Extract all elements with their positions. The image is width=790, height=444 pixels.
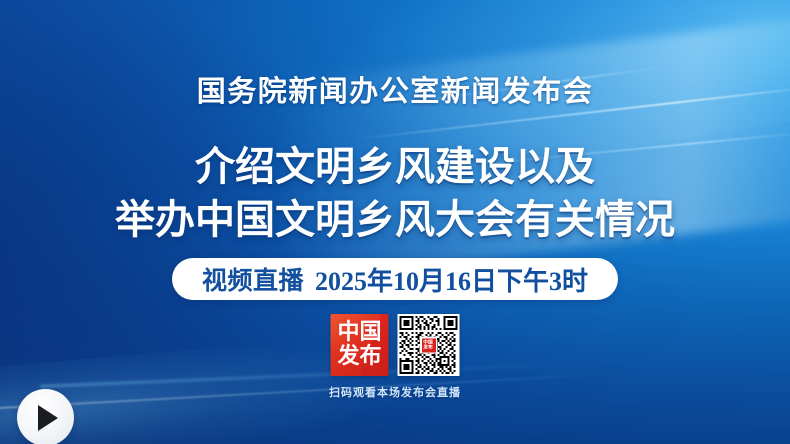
play-button[interactable] [17, 389, 74, 444]
qr-code[interactable]: 中国 发布 [398, 314, 460, 376]
live-broadcast-badge: 视频直播 2025年10月16日下午3时 [172, 258, 618, 300]
headline-line-2: 举办中国文明乡风大会有关情况 [0, 197, 790, 244]
qr-logo-text-bottom: 发布 [424, 345, 434, 350]
logo-text-bottom: 发布 [337, 346, 381, 368]
china-release-logo: 中国 发布 [331, 314, 389, 376]
press-conference-organizer-title: 国务院新闻办公室新闻发布会 [0, 68, 790, 110]
live-broadcast-poster: 国务院新闻办公室新闻发布会 介绍文明乡风建设以及 举办中国文明乡风大会有关情况 … [0, 0, 790, 444]
qr-code-logo-badge: 中国 发布 [420, 337, 437, 354]
play-icon [38, 405, 58, 431]
logo-text-top: 中国 [337, 322, 381, 344]
broadcast-datetime: 2025年10月16日下午3时 [315, 261, 588, 298]
live-broadcast-label: 视频直播 [202, 261, 304, 297]
headline-line-1: 介绍文明乡风建设以及 [0, 144, 790, 191]
brand-row: 中国 发布 [331, 314, 460, 376]
scan-qr-caption: 扫码观看本场发布会直播 [0, 384, 790, 400]
poster-content: 国务院新闻办公室新闻发布会 介绍文明乡风建设以及 举办中国文明乡风大会有关情况 … [0, 0, 790, 444]
page-title: 介绍文明乡风建设以及 举办中国文明乡风大会有关情况 [0, 144, 790, 244]
